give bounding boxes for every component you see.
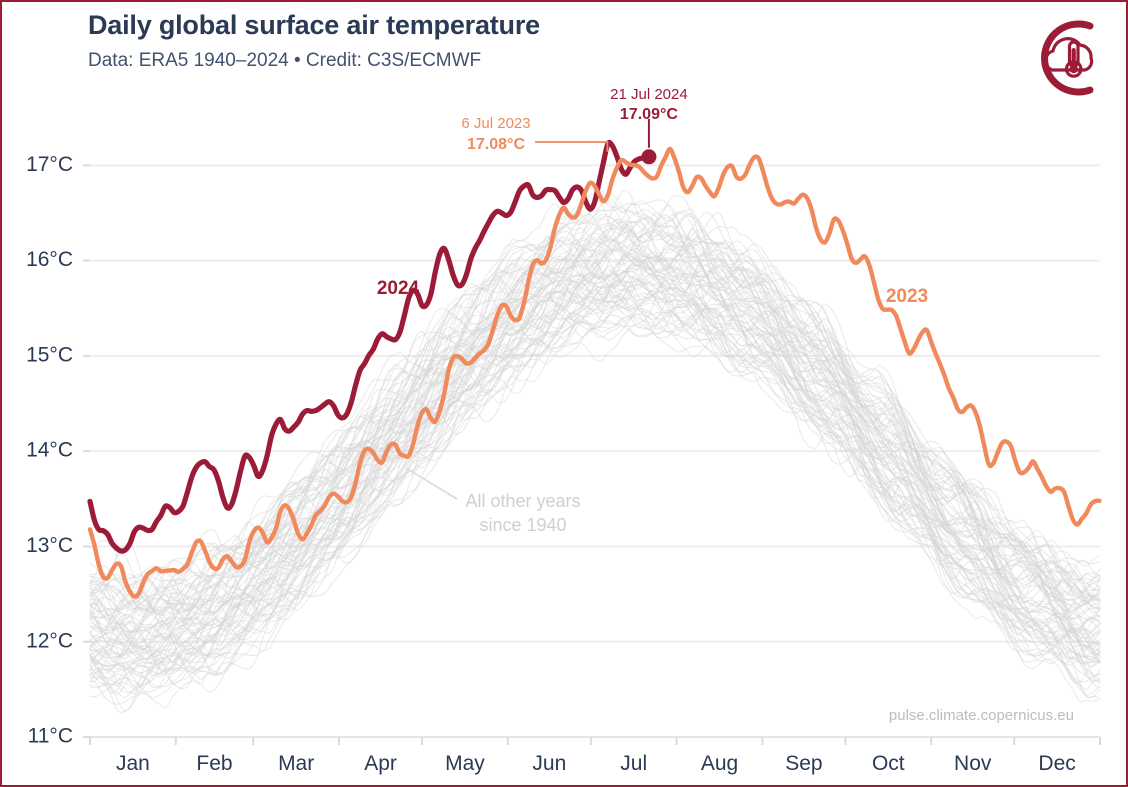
band-label-line-2: since 1940 [479,515,566,535]
x-axis-tick-label: May [445,752,485,775]
x-axis-tick-label: Feb [196,752,232,775]
y-axis-tick-label: 17°C [26,153,73,176]
y-axis-ticks [83,165,90,737]
y-axis-tick-label: 14°C [26,439,73,462]
x-axis: JanFebMarAprMayJunJulAugSepOctNovDec [90,737,1100,775]
annotation-2024-date: 21 Jul 2024 [610,86,688,103]
peak-marker [641,149,656,164]
y-axis-tick-label: 13°C [26,534,73,557]
y-axis-tick-label: 15°C [26,343,73,366]
y-axis-tick-label: 12°C [26,629,73,652]
annotations: 6 Jul 202317.08°C21 Jul 202417.09°C [461,86,687,153]
x-axis-tick-label: Jan [116,752,150,775]
chart-container: Daily global surface air temperature Dat… [0,0,1128,787]
series-label-2024: 2024 [377,278,420,299]
band-label-line-1: All other years [465,491,580,511]
x-axis-tick-label: Jul [620,752,647,775]
x-axis-tick-label: Nov [954,752,992,775]
series-label-2023: 2023 [886,286,928,307]
band-label-leader-line [406,468,457,499]
y-axis-tick-label: 16°C [26,248,73,271]
band-label: All other yearssince 1940 [465,491,580,535]
y-axis-tick-label: 11°C [28,725,73,748]
x-axis-tick-label: Mar [278,752,314,775]
y-axis-labels: 11°C12°C13°C14°C15°C16°C17°C [26,153,73,748]
annotation-2024-value: 17.09°C [620,106,678,123]
x-axis-tick-label: Aug [701,752,738,775]
series-inline-labels: 20242023 [377,278,928,307]
annotation-2023-date: 6 Jul 2023 [461,115,530,132]
watermark: pulse.climate.copernicus.eu [889,707,1074,724]
x-axis-tick-label: Jun [532,752,566,775]
x-axis-tick-label: Apr [364,752,397,775]
x-axis-tick-label: Sep [785,752,822,775]
x-axis-tick-label: Dec [1038,752,1075,775]
annotation-2023-value: 17.08°C [467,136,525,153]
plot-area: 11°C12°C13°C14°C15°C16°C17°C All other y… [2,2,1128,787]
x-axis-tick-label: Oct [872,752,905,775]
peak-marker-2024 [641,149,656,164]
